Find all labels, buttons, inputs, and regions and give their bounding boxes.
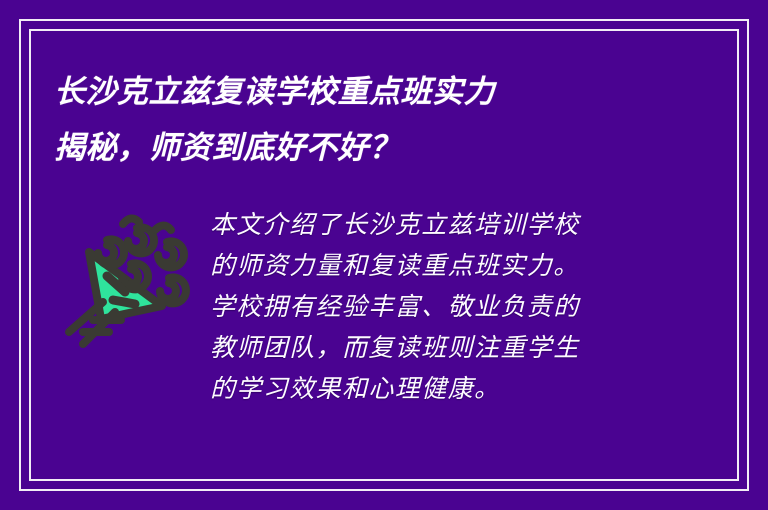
title-line-1: 长沙克立兹复读学校重点班实力 <box>54 64 674 120</box>
content-row: 本文介绍了长沙克立兹培训学校 的师资力量和复读重点班实力。 学校拥有经验丰富、敬… <box>54 200 714 409</box>
body-line-5: 的学习效果和心理健康。 <box>210 368 714 409</box>
body-line-3: 学校拥有经验丰富、敬业负责的 <box>210 286 714 327</box>
promo-card: 长沙克立兹复读学校重点班实力 揭秘，师资到底好不好？ <box>0 0 768 510</box>
body-line-2: 的师资力量和复读重点班实力。 <box>210 245 714 286</box>
title-line-2: 揭秘，师资到底好不好？ <box>54 120 674 176</box>
body-line-1: 本文介绍了长沙克立兹培训学校 <box>210 204 714 245</box>
bouquet-icon <box>54 200 204 350</box>
body-line-4: 教师团队，而复读班则注重学生 <box>210 327 714 368</box>
body-paragraph: 本文介绍了长沙克立兹培训学校 的师资力量和复读重点班实力。 学校拥有经验丰富、敬… <box>204 200 714 409</box>
page-title: 长沙克立兹复读学校重点班实力 揭秘，师资到底好不好？ <box>54 64 674 176</box>
